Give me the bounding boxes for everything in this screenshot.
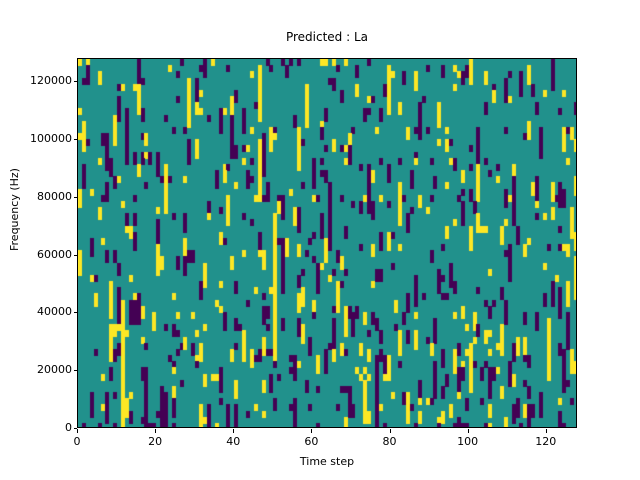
- y-tick-mark: [74, 139, 78, 140]
- y-tick-label: 0: [0, 421, 72, 434]
- y-axis-label: Frequency (Hz): [8, 235, 21, 251]
- y-tick-mark: [74, 255, 78, 256]
- heatmap-image: [78, 59, 577, 428]
- page-title: Predicted : La: [77, 30, 577, 44]
- x-tick-label: 0: [47, 435, 107, 448]
- x-tick-mark: [311, 429, 312, 433]
- x-tick-mark: [233, 429, 234, 433]
- x-tick-label: 120: [516, 435, 576, 448]
- y-tick-label: 40000: [0, 305, 72, 318]
- y-tick-mark: [74, 81, 78, 82]
- y-tick-label: 20000: [0, 363, 72, 376]
- x-tick-label: 100: [438, 435, 498, 448]
- x-axis-label: Time step: [77, 455, 577, 468]
- x-tick-mark: [546, 429, 547, 433]
- heatmap-plot-area[interactable]: [77, 58, 577, 428]
- matplotlib-figure: Predicted : La 020406080100120 020000400…: [0, 0, 640, 480]
- y-tick-mark: [74, 197, 78, 198]
- x-tick-mark: [77, 429, 78, 433]
- y-tick-mark: [74, 370, 78, 371]
- x-tick-label: 20: [125, 435, 185, 448]
- y-tick-label: 100000: [0, 132, 72, 145]
- y-tick-label: 120000: [0, 74, 72, 87]
- x-tick-mark: [390, 429, 391, 433]
- x-tick-label: 80: [360, 435, 420, 448]
- x-tick-label: 60: [281, 435, 341, 448]
- x-tick-mark: [468, 429, 469, 433]
- x-tick-label: 40: [203, 435, 263, 448]
- x-tick-mark: [155, 429, 156, 433]
- y-tick-mark: [74, 428, 78, 429]
- y-tick-mark: [74, 312, 78, 313]
